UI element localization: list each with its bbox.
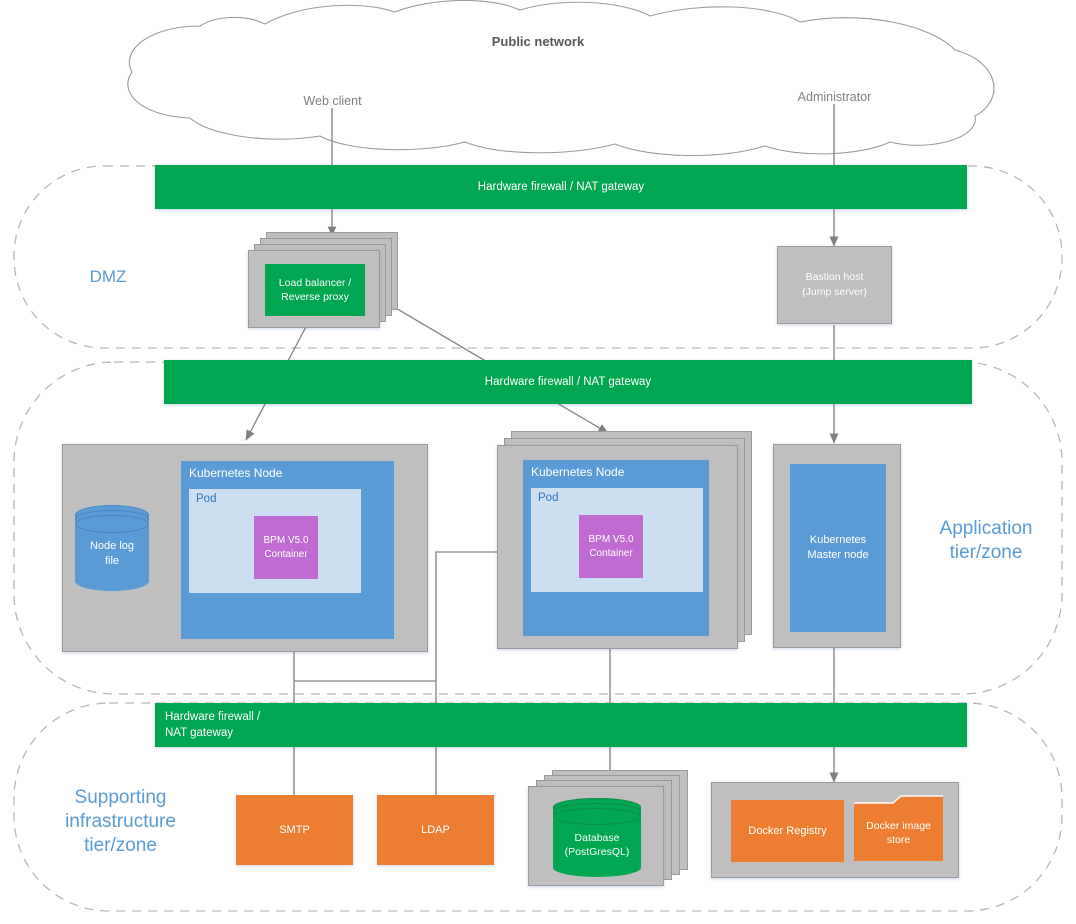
firewall-bar-middle-label: Hardware firewall / NAT gateway <box>485 374 651 390</box>
node-log-file-line1: Node log <box>75 539 149 554</box>
zone-label-supporting-line3: tier/zone <box>38 834 203 858</box>
node-log-file-ring-2 <box>75 515 149 533</box>
node-log-file-bottom-cap <box>75 571 149 591</box>
docker-registry-label: Docker Registry <box>748 824 826 839</box>
docker-image-store[interactable]: Docker image store <box>853 795 944 862</box>
database-front-card: Database (PostGresQL) <box>528 786 664 886</box>
database-line2: (PostGresQL) <box>553 845 641 859</box>
bastion-host-line1: Bastion host <box>806 270 864 285</box>
load-balancer-line2: Reverse proxy <box>281 290 349 304</box>
bpm-container-a-line2: Container <box>264 548 307 562</box>
pod-a-title: Pod <box>196 493 216 505</box>
database-label: Database (PostGresQL) <box>553 831 641 859</box>
bpm-container-b-line1: BPM V5.0 <box>588 533 633 547</box>
zone-label-application-line2: tier/zone <box>906 541 1066 565</box>
architecture-diagram: Public network Web client Administrator … <box>0 0 1076 924</box>
kubernetes-master-host[interactable]: Kubernetes Master node <box>773 444 901 648</box>
kubernetes-node-a-host[interactable]: Node log file Kubernetes Node Pod BPM V5… <box>62 444 428 652</box>
load-balancer-inner: Load balancer / Reverse proxy <box>265 264 365 316</box>
docker-registry[interactable]: Docker Registry <box>731 800 844 862</box>
database-line1: Database <box>553 831 641 845</box>
database-stack[interactable]: Database (PostGresQL) <box>528 770 688 886</box>
load-balancer-front-card: Load balancer / Reverse proxy <box>248 250 380 328</box>
administrator-label: Administrator <box>772 90 897 104</box>
bpm-container-b-line2: Container <box>589 547 632 561</box>
firewall-bar-bottom-line1: Hardware firewall / <box>165 709 260 725</box>
zone-label-supporting-line1: Supporting <box>38 786 203 810</box>
load-balancer-line1: Load balancer / <box>279 276 351 290</box>
firewall-bar-bottom-line2: NAT gateway <box>165 725 260 741</box>
smtp-label: SMTP <box>279 823 310 838</box>
docker-host[interactable]: Docker Registry Docker image store <box>711 782 959 878</box>
zone-label-dmz: DMZ <box>58 266 158 287</box>
kubernetes-node-b-title: Kubernetes Node <box>531 465 624 479</box>
kubernetes-node-b-host: Kubernetes Node Pod BPM V5.0 Container <box>497 445 738 649</box>
firewall-bar-middle: Hardware firewall / NAT gateway <box>164 360 972 404</box>
database-ring-2 <box>553 808 641 825</box>
database-bottom-cap <box>553 858 641 877</box>
public-network-title: Public network <box>0 34 1076 49</box>
bastion-host[interactable]: Bastion host (Jump server) <box>777 246 892 324</box>
zone-label-application-line1: Application <box>906 517 1066 541</box>
docker-image-store-line1: Docker image <box>853 819 944 833</box>
kubernetes-node-b-stack[interactable]: Kubernetes Node Pod BPM V5.0 Container <box>497 431 752 649</box>
ldap-service[interactable]: LDAP <box>377 795 494 865</box>
zone-label-supporting: Supporting infrastructure tier/zone <box>38 786 203 857</box>
bpm-container-b[interactable]: BPM V5.0 Container <box>579 515 643 578</box>
kubernetes-master-line2: Master node <box>807 548 868 563</box>
zone-label-application: Application tier/zone <box>906 517 1066 565</box>
bastion-host-line2: (Jump server) <box>802 285 867 300</box>
kubernetes-node-b[interactable]: Kubernetes Node Pod BPM V5.0 Container <box>523 460 709 636</box>
firewall-bar-top: Hardware firewall / NAT gateway <box>155 165 967 209</box>
firewall-bar-top-label: Hardware firewall / NAT gateway <box>478 179 644 195</box>
docker-image-store-line2: store <box>853 833 944 847</box>
node-log-file-label: Node log file <box>75 539 149 569</box>
zone-label-supporting-line2: infrastructure <box>38 810 203 834</box>
pod-b[interactable]: Pod BPM V5.0 Container <box>531 488 703 592</box>
kubernetes-master-node-label: Kubernetes Master node <box>790 464 886 632</box>
docker-image-store-label: Docker image store <box>853 819 944 847</box>
pod-b-title: Pod <box>538 492 558 504</box>
ldap-label: LDAP <box>421 823 450 838</box>
load-balancer-stack[interactable]: Load balancer / Reverse proxy <box>248 232 398 328</box>
node-log-file-cylinder[interactable]: Node log file <box>75 505 149 591</box>
bpm-container-a-line1: BPM V5.0 <box>263 534 308 548</box>
kubernetes-master-node[interactable]: Kubernetes Master node <box>790 464 886 632</box>
firewall-bar-bottom: Hardware firewall / NAT gateway <box>155 703 967 747</box>
bpm-container-a[interactable]: BPM V5.0 Container <box>254 516 318 579</box>
pod-a[interactable]: Pod BPM V5.0 Container <box>189 489 361 593</box>
web-client-label: Web client <box>270 94 395 108</box>
public-network-cloud <box>128 0 994 155</box>
database-cylinder: Database (PostGresQL) <box>553 798 641 878</box>
kubernetes-master-line1: Kubernetes <box>807 533 868 548</box>
smtp-service[interactable]: SMTP <box>236 795 353 865</box>
kubernetes-node-a-title: Kubernetes Node <box>189 466 282 480</box>
node-log-file-line2: file <box>75 554 149 569</box>
kubernetes-node-a[interactable]: Kubernetes Node Pod BPM V5.0 Container <box>181 461 394 639</box>
